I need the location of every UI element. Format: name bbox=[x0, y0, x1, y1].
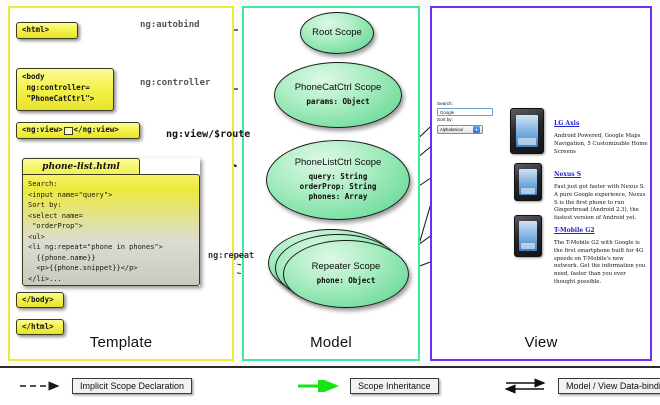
arrow-label-autobind: ng:autobind bbox=[140, 20, 200, 30]
template-file-callout: phone-list.html Search: <input name="que… bbox=[22, 158, 200, 286]
template-file-name: phone-list.html bbox=[22, 158, 140, 175]
code-box-body-tag: <body ng:controller= "PhoneCatCtrl"> bbox=[16, 68, 114, 111]
scope-phonelistctrl: PhoneListCtrl Scope query: String orderP… bbox=[266, 140, 410, 220]
legend-label: Model / View Data-binding bbox=[558, 378, 660, 394]
scope-phonecatctrl-title: PhoneCatCtrl Scope bbox=[295, 83, 382, 94]
chevron-down-icon: ▾ bbox=[473, 126, 480, 133]
green-arrow-icon bbox=[296, 380, 344, 392]
scope-repeater: Repeater Scope phone: Object bbox=[283, 240, 409, 308]
phone-thumbnail bbox=[510, 108, 544, 154]
scope-phonecatctrl-props: params: Object bbox=[306, 97, 369, 107]
legend-item-data-binding: Model / View Data-binding bbox=[504, 378, 660, 394]
phone-image bbox=[514, 163, 542, 201]
code-box-end-body: </body> bbox=[16, 292, 64, 308]
search-label: Search: bbox=[437, 101, 497, 108]
template-file-code: Search: <input name="query"> Sort by: <s… bbox=[22, 174, 200, 286]
phone-snippet: Fast just got faster with Nexus S. A pur… bbox=[554, 184, 648, 223]
phone-snippet: The T-Mobile G2 with Google is the first… bbox=[554, 240, 648, 287]
phone-link[interactable]: LG Axis bbox=[554, 120, 579, 127]
view-search-form: Search: Google Sort by: Alphabetical ▾ bbox=[437, 101, 497, 134]
phone-screen bbox=[519, 169, 536, 196]
search-input[interactable]: Google bbox=[437, 108, 493, 116]
legend-label: Scope Inheritance bbox=[350, 378, 439, 394]
ngview-open-tag: <ng:view> bbox=[22, 125, 63, 136]
phone-thumbnail bbox=[514, 163, 542, 201]
legend-divider bbox=[0, 366, 660, 368]
arrow-label-controller: ng:controller bbox=[140, 78, 210, 88]
sort-select[interactable]: Alphabetical ▾ bbox=[437, 125, 483, 134]
phone-link[interactable]: Nexus S bbox=[554, 171, 581, 178]
sort-label: Sort by: bbox=[437, 117, 497, 124]
sort-select-value: Alphabetical bbox=[440, 125, 463, 134]
scope-root-title: Root Scope bbox=[312, 28, 362, 39]
legend-item-scope-inheritance: Scope Inheritance bbox=[296, 378, 439, 394]
phone-image bbox=[510, 108, 544, 154]
scope-repeater-props: phone: Object bbox=[317, 276, 376, 286]
list-item: Nexus S Fast just got faster with Nexus … bbox=[554, 163, 648, 223]
list-item: LG Axis Android Powered, Google Maps Nav… bbox=[554, 112, 648, 156]
phone-screen bbox=[519, 221, 536, 251]
bidirectional-arrow-icon bbox=[504, 378, 552, 394]
phone-link[interactable]: T-Mobile G2 bbox=[554, 227, 595, 234]
panel-view-label: View bbox=[432, 334, 650, 351]
phone-image bbox=[514, 215, 542, 257]
list-item: T-Mobile G2 The T-Mobile G2 with Google … bbox=[554, 219, 648, 287]
legend-item-implicit-scope: Implicit Scope Declaration bbox=[18, 378, 192, 394]
scope-phonelistctrl-title: PhoneListCtrl Scope bbox=[295, 158, 382, 169]
phone-snippet: Android Powered, Google Maps Navigation,… bbox=[554, 133, 648, 156]
ngview-slot-icon bbox=[64, 127, 73, 135]
scope-phonelistctrl-props: query: String orderProp: String phones: … bbox=[300, 172, 377, 202]
legend-label: Implicit Scope Declaration bbox=[72, 378, 192, 394]
code-box-end-html: </html> bbox=[16, 319, 64, 335]
phone-thumbnail bbox=[514, 215, 542, 257]
dashed-arrow-icon bbox=[18, 380, 66, 392]
phone-screen bbox=[516, 115, 537, 148]
scope-root: Root Scope bbox=[300, 12, 374, 54]
arrow-label-repeat: ng:repeat bbox=[208, 251, 254, 261]
code-box-html-tag: <html> bbox=[16, 22, 78, 39]
panel-model-label: Model bbox=[244, 334, 418, 351]
code-box-ngview: <ng:view></ng:view> bbox=[16, 122, 140, 139]
scope-phonecatctrl: PhoneCatCtrl Scope params: Object bbox=[274, 62, 402, 128]
ngview-close-tag: </ng:view> bbox=[74, 125, 119, 136]
diagram-canvas: Template <html> <body ng:controller= "Ph… bbox=[0, 0, 660, 405]
arrow-label-ngview-route: ng:view/$route bbox=[166, 129, 250, 140]
panel-template-label: Template bbox=[10, 334, 232, 351]
legend: Implicit Scope Declaration Scope Inherit… bbox=[0, 366, 660, 405]
scope-repeater-title: Repeater Scope bbox=[312, 262, 381, 273]
